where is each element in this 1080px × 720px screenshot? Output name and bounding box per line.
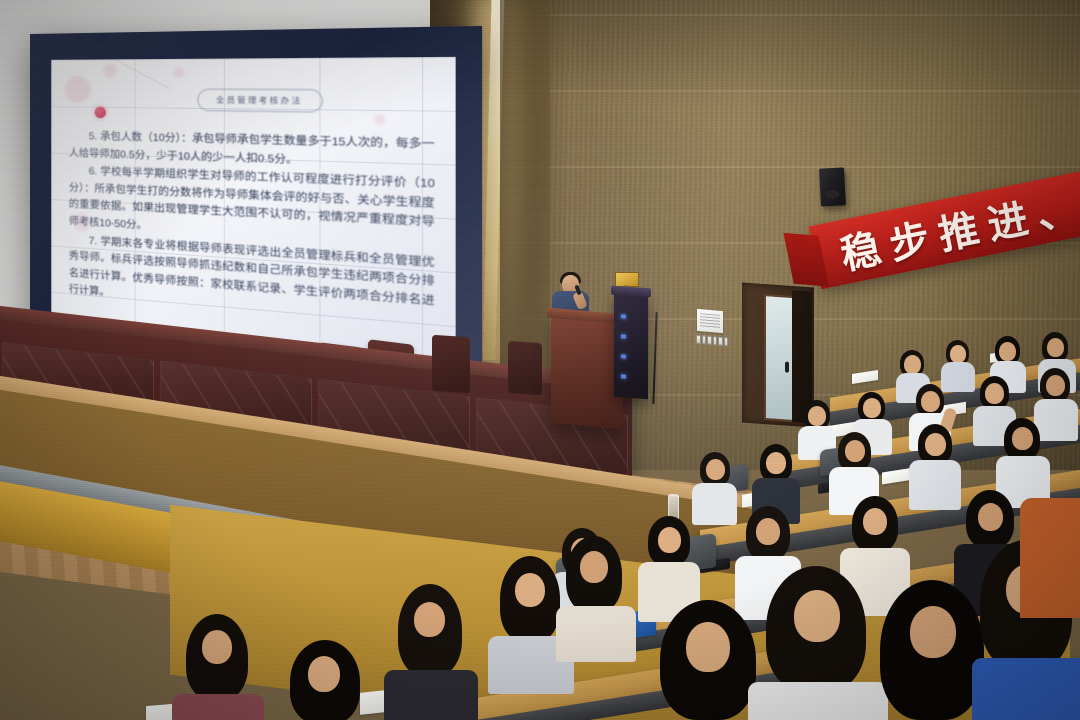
torso — [384, 670, 478, 720]
head — [808, 406, 826, 426]
head — [925, 433, 946, 456]
rack-indicator-led — [621, 334, 626, 338]
wall-notice — [697, 309, 723, 333]
head — [999, 342, 1016, 361]
head — [1047, 338, 1064, 357]
wall-speaker-icon — [819, 167, 846, 206]
head — [756, 518, 780, 545]
head — [978, 503, 1003, 531]
light-switch[interactable] — [696, 335, 701, 344]
light-switch[interactable] — [718, 337, 723, 346]
head — [580, 551, 608, 583]
light-switch[interactable] — [724, 337, 729, 346]
head — [686, 622, 730, 672]
head — [985, 383, 1004, 404]
slide-decor-circle-icon — [103, 63, 117, 77]
torso — [1020, 498, 1080, 618]
head — [658, 527, 681, 553]
slide-title: 全员管理考核办法 — [197, 89, 323, 113]
speaker-podium — [551, 315, 623, 429]
red-bullet-dot-icon — [95, 107, 106, 118]
door-handle[interactable] — [785, 361, 789, 372]
stage-side-chair — [508, 341, 542, 395]
rack-indicator-led — [621, 374, 626, 378]
slide-decor-circle-icon — [65, 76, 91, 103]
head — [921, 391, 940, 412]
light-switch[interactable] — [707, 336, 712, 345]
rack-top — [611, 286, 651, 298]
av-equipment-rack — [614, 292, 648, 399]
slide-decor-circle-icon — [174, 67, 185, 78]
lecture-hall-photo: 全员管理考核办法 5. 承包人数（10分）：承包导师承包学生数量多于15人次的，… — [0, 0, 1080, 720]
head — [863, 508, 887, 535]
stage-side-chair — [432, 335, 470, 394]
torso — [1034, 399, 1078, 441]
side-door[interactable] — [742, 282, 814, 427]
head — [794, 590, 840, 642]
rack-indicator-led — [621, 354, 626, 358]
slide-decor-circle-icon — [374, 114, 385, 124]
torso — [692, 483, 737, 525]
torso — [909, 460, 961, 510]
rack-indicator-led — [621, 314, 626, 318]
head — [845, 440, 865, 462]
head — [308, 656, 340, 692]
light-switch[interactable] — [713, 336, 718, 345]
head — [766, 452, 786, 474]
head — [910, 606, 956, 658]
head — [202, 630, 232, 664]
torso — [972, 658, 1080, 720]
head — [863, 398, 881, 418]
torso — [556, 606, 636, 662]
torso — [748, 682, 888, 720]
torso — [172, 694, 264, 720]
head — [414, 602, 445, 637]
head — [904, 355, 921, 374]
head — [1012, 427, 1033, 450]
slide-body-text: 5. 承包人数（10分）：承包导师承包学生数量多于15人次的，每多一人给导师加0… — [69, 129, 435, 333]
light-switch[interactable] — [702, 335, 707, 344]
head — [1046, 375, 1065, 396]
torso — [941, 362, 975, 392]
head — [706, 459, 725, 480]
head — [515, 573, 545, 607]
head — [950, 345, 966, 363]
